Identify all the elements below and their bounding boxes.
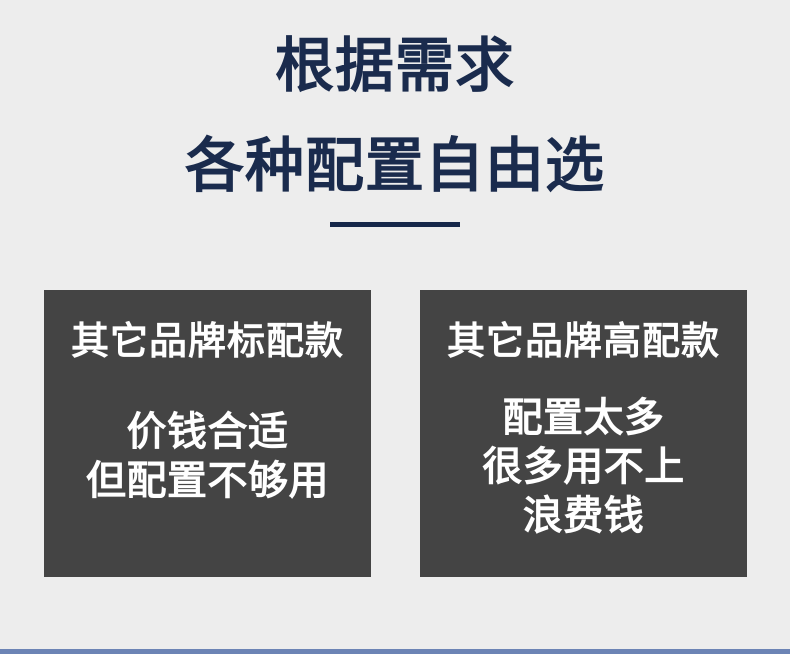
headline-divider [330, 222, 460, 227]
comparison-cards-row: 其它品牌标配款 价钱合适 但配置不够用 其它品牌高配款 配置太多 很多用不上 浪… [44, 290, 748, 577]
promo-page: 根据需求 各种配置自由选 其它品牌标配款 价钱合适 但配置不够用 其它品牌高配款… [0, 0, 790, 654]
card-body-line: 价钱合适 [44, 408, 371, 457]
card-body-line: 配置太多 [420, 394, 747, 443]
headline-line-2: 各种配置自由选 [0, 137, 790, 196]
card-high-config: 其它品牌高配款 配置太多 很多用不上 浪费钱 [420, 290, 747, 577]
card-body-line: 浪费钱 [420, 492, 747, 541]
card-body-line: 很多用不上 [420, 443, 747, 492]
card-body: 配置太多 很多用不上 浪费钱 [420, 394, 747, 541]
card-title: 其它品牌标配款 [44, 323, 371, 361]
headline-line-1: 根据需求 [0, 37, 790, 96]
bottom-accent-strip [0, 649, 790, 654]
card-body: 价钱合适 但配置不够用 [44, 408, 371, 506]
card-body-line: 但配置不够用 [44, 457, 371, 506]
card-standard-config: 其它品牌标配款 价钱合适 但配置不够用 [44, 290, 371, 577]
card-title: 其它品牌高配款 [420, 323, 747, 361]
